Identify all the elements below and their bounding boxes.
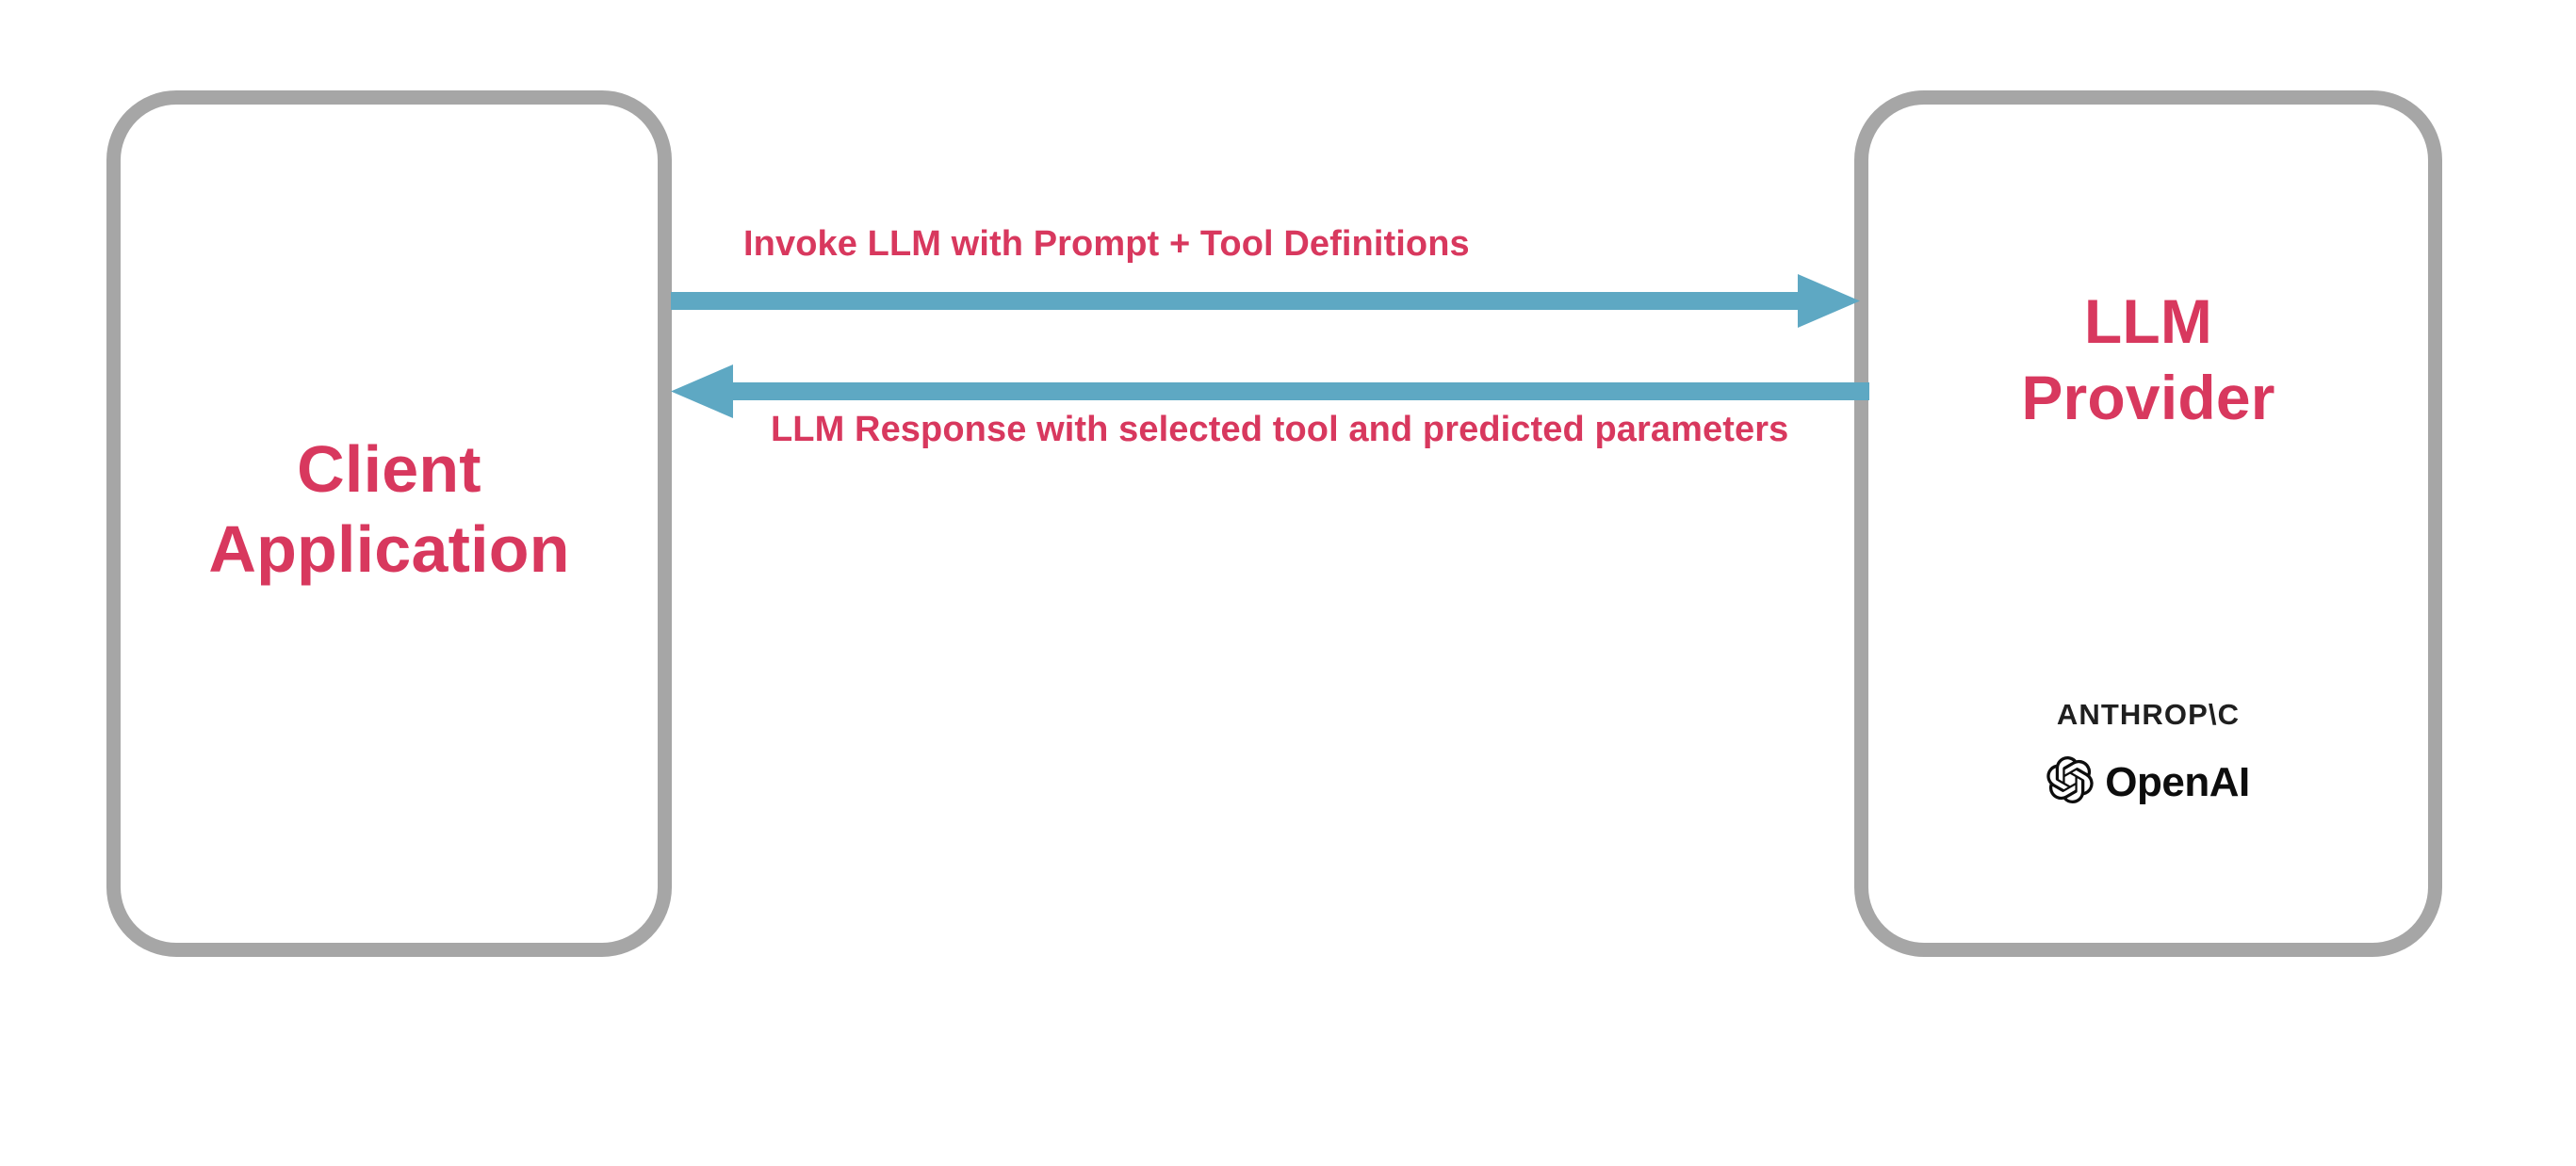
openai-logo: OpenAI xyxy=(2046,756,2249,808)
node-client-application-label: Client Application xyxy=(208,429,569,591)
request-arrow xyxy=(671,273,1860,328)
node-llm-provider-label: LLM Provider xyxy=(2021,283,2274,435)
anthropic-logo: ANTHROP\C xyxy=(2057,698,2240,732)
response-arrow-label: LLM Response with selected tool and pred… xyxy=(771,410,1788,450)
provider-brand-list: ANTHROP\C OpenAI xyxy=(1868,698,2428,808)
diagram-canvas: Client Application LLM Provider ANTHROP\… xyxy=(0,0,2576,1166)
node-llm-provider[interactable]: LLM Provider ANTHROP\C OpenAI xyxy=(1854,90,2442,957)
openai-blossom-icon xyxy=(2046,756,2094,808)
openai-wordmark-label: OpenAI xyxy=(2105,759,2249,806)
request-arrow-label: Invoke LLM with Prompt + Tool Definition… xyxy=(743,224,1470,265)
node-client-application[interactable]: Client Application xyxy=(106,90,672,957)
